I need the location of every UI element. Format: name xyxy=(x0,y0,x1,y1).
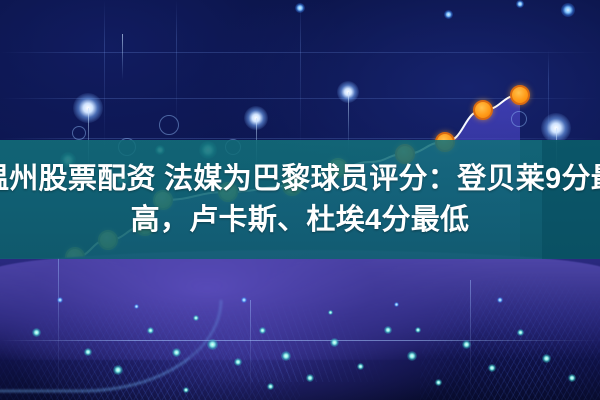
chart-data-point xyxy=(510,85,530,105)
bottom-vertical-line xyxy=(250,300,251,400)
bottom-vertical-line xyxy=(470,280,471,400)
chart-data-point xyxy=(473,100,493,120)
bottom-horizon-line xyxy=(0,340,600,341)
page-title-line-1: 温州股票配资 法媒为巴黎球员评分：登贝莱9分最 xyxy=(0,159,600,200)
image-canvas: 温州股票配资 法媒为巴黎球员评分：登贝莱9分最 高，卢卡斯、杜埃4分最低 xyxy=(0,0,600,400)
grid-line-vertical xyxy=(300,0,301,150)
page-title: 温州股票配资 法媒为巴黎球员评分：登贝莱9分最 高，卢卡斯、杜埃4分最低 xyxy=(0,140,600,259)
grid-line-vertical xyxy=(176,0,177,130)
page-title-line-2: 高，卢卡斯、杜埃4分最低 xyxy=(131,200,470,241)
bottom-vertical-line xyxy=(58,258,59,400)
grid-line-vertical xyxy=(104,0,105,150)
purple-wave-band xyxy=(0,250,600,360)
grid-line-vertical xyxy=(548,50,549,150)
